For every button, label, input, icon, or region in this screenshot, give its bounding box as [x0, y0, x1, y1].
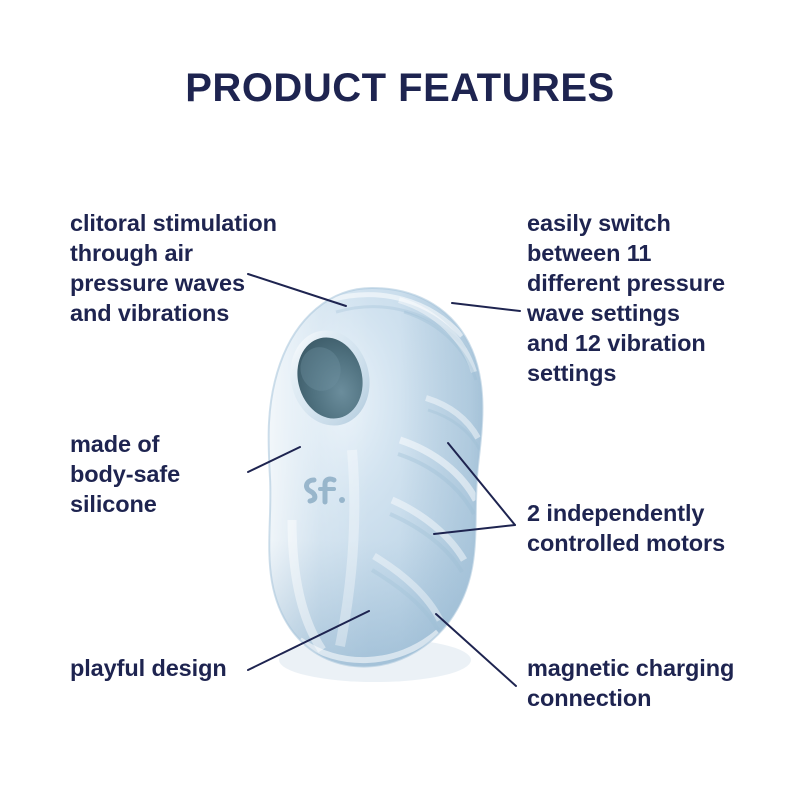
page-title: PRODUCT FEATURES: [0, 66, 800, 111]
leader-line-magnetic-charging: [436, 614, 516, 686]
feature-label-playful-design: playful design: [70, 653, 300, 683]
feature-label-body-safe-silicone: made of body-safe silicone: [70, 429, 290, 519]
feature-label-pressure-wave-settings: easily switch between 11 different press…: [527, 208, 782, 388]
feature-label-magnetic-charging: magnetic charging connection: [527, 653, 782, 713]
product-features-infographic: PRODUCT FEATURES: [0, 0, 800, 800]
leader-line-motors-upper: [448, 443, 515, 525]
feature-label-clitoral-stimulation: clitoral stimulation through air pressur…: [70, 208, 320, 328]
product-shadow: [279, 638, 471, 682]
brand-logo-icon: [307, 479, 345, 503]
leader-line-pressure-wave-settings: [452, 303, 520, 311]
feature-label-independently-controlled-motors: 2 independently controlled motors: [527, 498, 777, 558]
leader-line-motors-lower: [434, 525, 515, 534]
product-body: [260, 280, 500, 690]
air-pulse-opening: [281, 322, 380, 434]
